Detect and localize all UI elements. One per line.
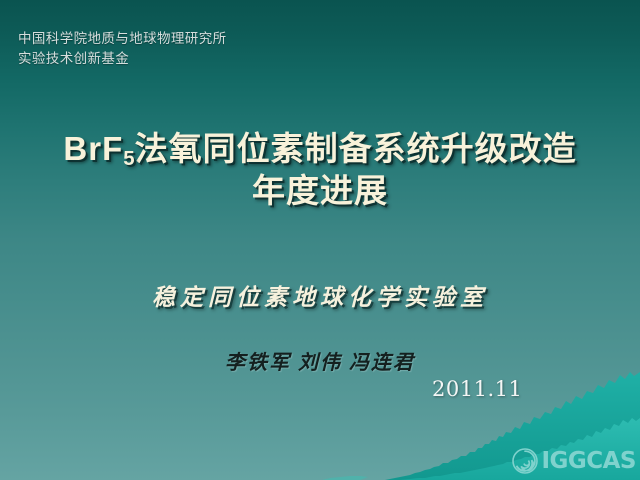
ridge-sliver bbox=[322, 476, 368, 480]
slide-title-line1: BrF5法氧同位素制备系统升级改造 bbox=[0, 128, 640, 170]
presentation-title-slide: 中国科学院地质与地球物理研究所 实验技术创新基金 BrF5法氧同位素制备系统升级… bbox=[0, 0, 640, 480]
iggcas-wordmark: IGGCAS bbox=[541, 450, 636, 473]
institute-header: 中国科学院地质与地球物理研究所 实验技术创新基金 bbox=[18, 29, 227, 68]
title-formula-prefix: BrF bbox=[63, 130, 123, 167]
slide-title-line2: 年度进展 bbox=[0, 170, 640, 212]
iggcas-logo: IGGCAS bbox=[512, 448, 636, 474]
mountain-ridge-decoration bbox=[0, 0, 640, 480]
laboratory-name: 稳定同位素地球化学实验室 bbox=[0, 278, 640, 312]
title-formula-subscript: 5 bbox=[123, 147, 134, 170]
institute-name-line2: 实验技术创新基金 bbox=[18, 49, 227, 69]
title-line1-text: 法氧同位素制备系统升级改造 bbox=[135, 130, 577, 167]
slide-title: BrF5法氧同位素制备系统升级改造 年度进展 bbox=[0, 128, 640, 212]
institute-name-line1: 中国科学院地质与地球物理研究所 bbox=[18, 29, 227, 49]
spiral-icon bbox=[512, 448, 538, 474]
author-names: 李铁军 刘伟 冯连君 bbox=[0, 346, 640, 375]
presentation-date: 2011.11 bbox=[432, 377, 552, 401]
